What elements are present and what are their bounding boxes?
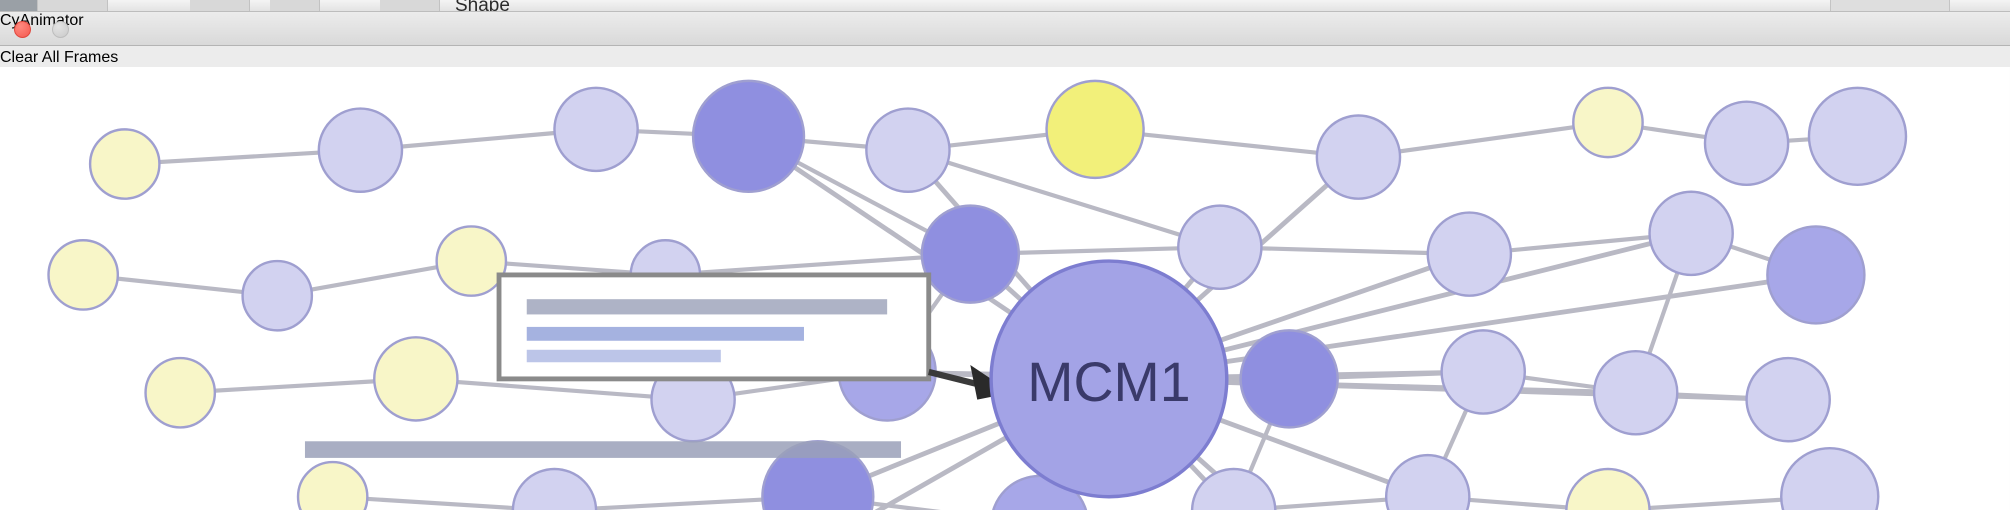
svg-text:MCM1: MCM1	[1027, 351, 1190, 413]
bg-chunk	[38, 0, 108, 12]
timeline-panel[interactable]: MCM1MCM1MCM1 2131415161718 Seconds	[0, 67, 2010, 510]
maximize-window-button[interactable]	[0, 21, 17, 38]
background-window-strip: Shape	[0, 0, 2010, 12]
clear-all-frames-button[interactable]: Clear All Frames	[0, 49, 2010, 67]
title-bar: CyAnimator	[0, 12, 2010, 46]
bg-chunk	[0, 0, 38, 12]
window-title: CyAnimator	[0, 12, 2010, 30]
minimize-window-button[interactable]	[52, 21, 69, 38]
clear-all-frames-label: Clear All Frames	[0, 49, 118, 66]
bg-chunk	[190, 0, 250, 12]
background-window-label: Shape	[455, 0, 510, 12]
frames-layer: MCM1MCM1MCM1	[0, 67, 2010, 510]
bg-chunk	[380, 0, 440, 12]
bg-chunk	[270, 0, 320, 12]
bg-chunk	[1830, 0, 1950, 12]
timeline-frame-thumbnail[interactable]: MCM1	[0, 67, 2010, 510]
